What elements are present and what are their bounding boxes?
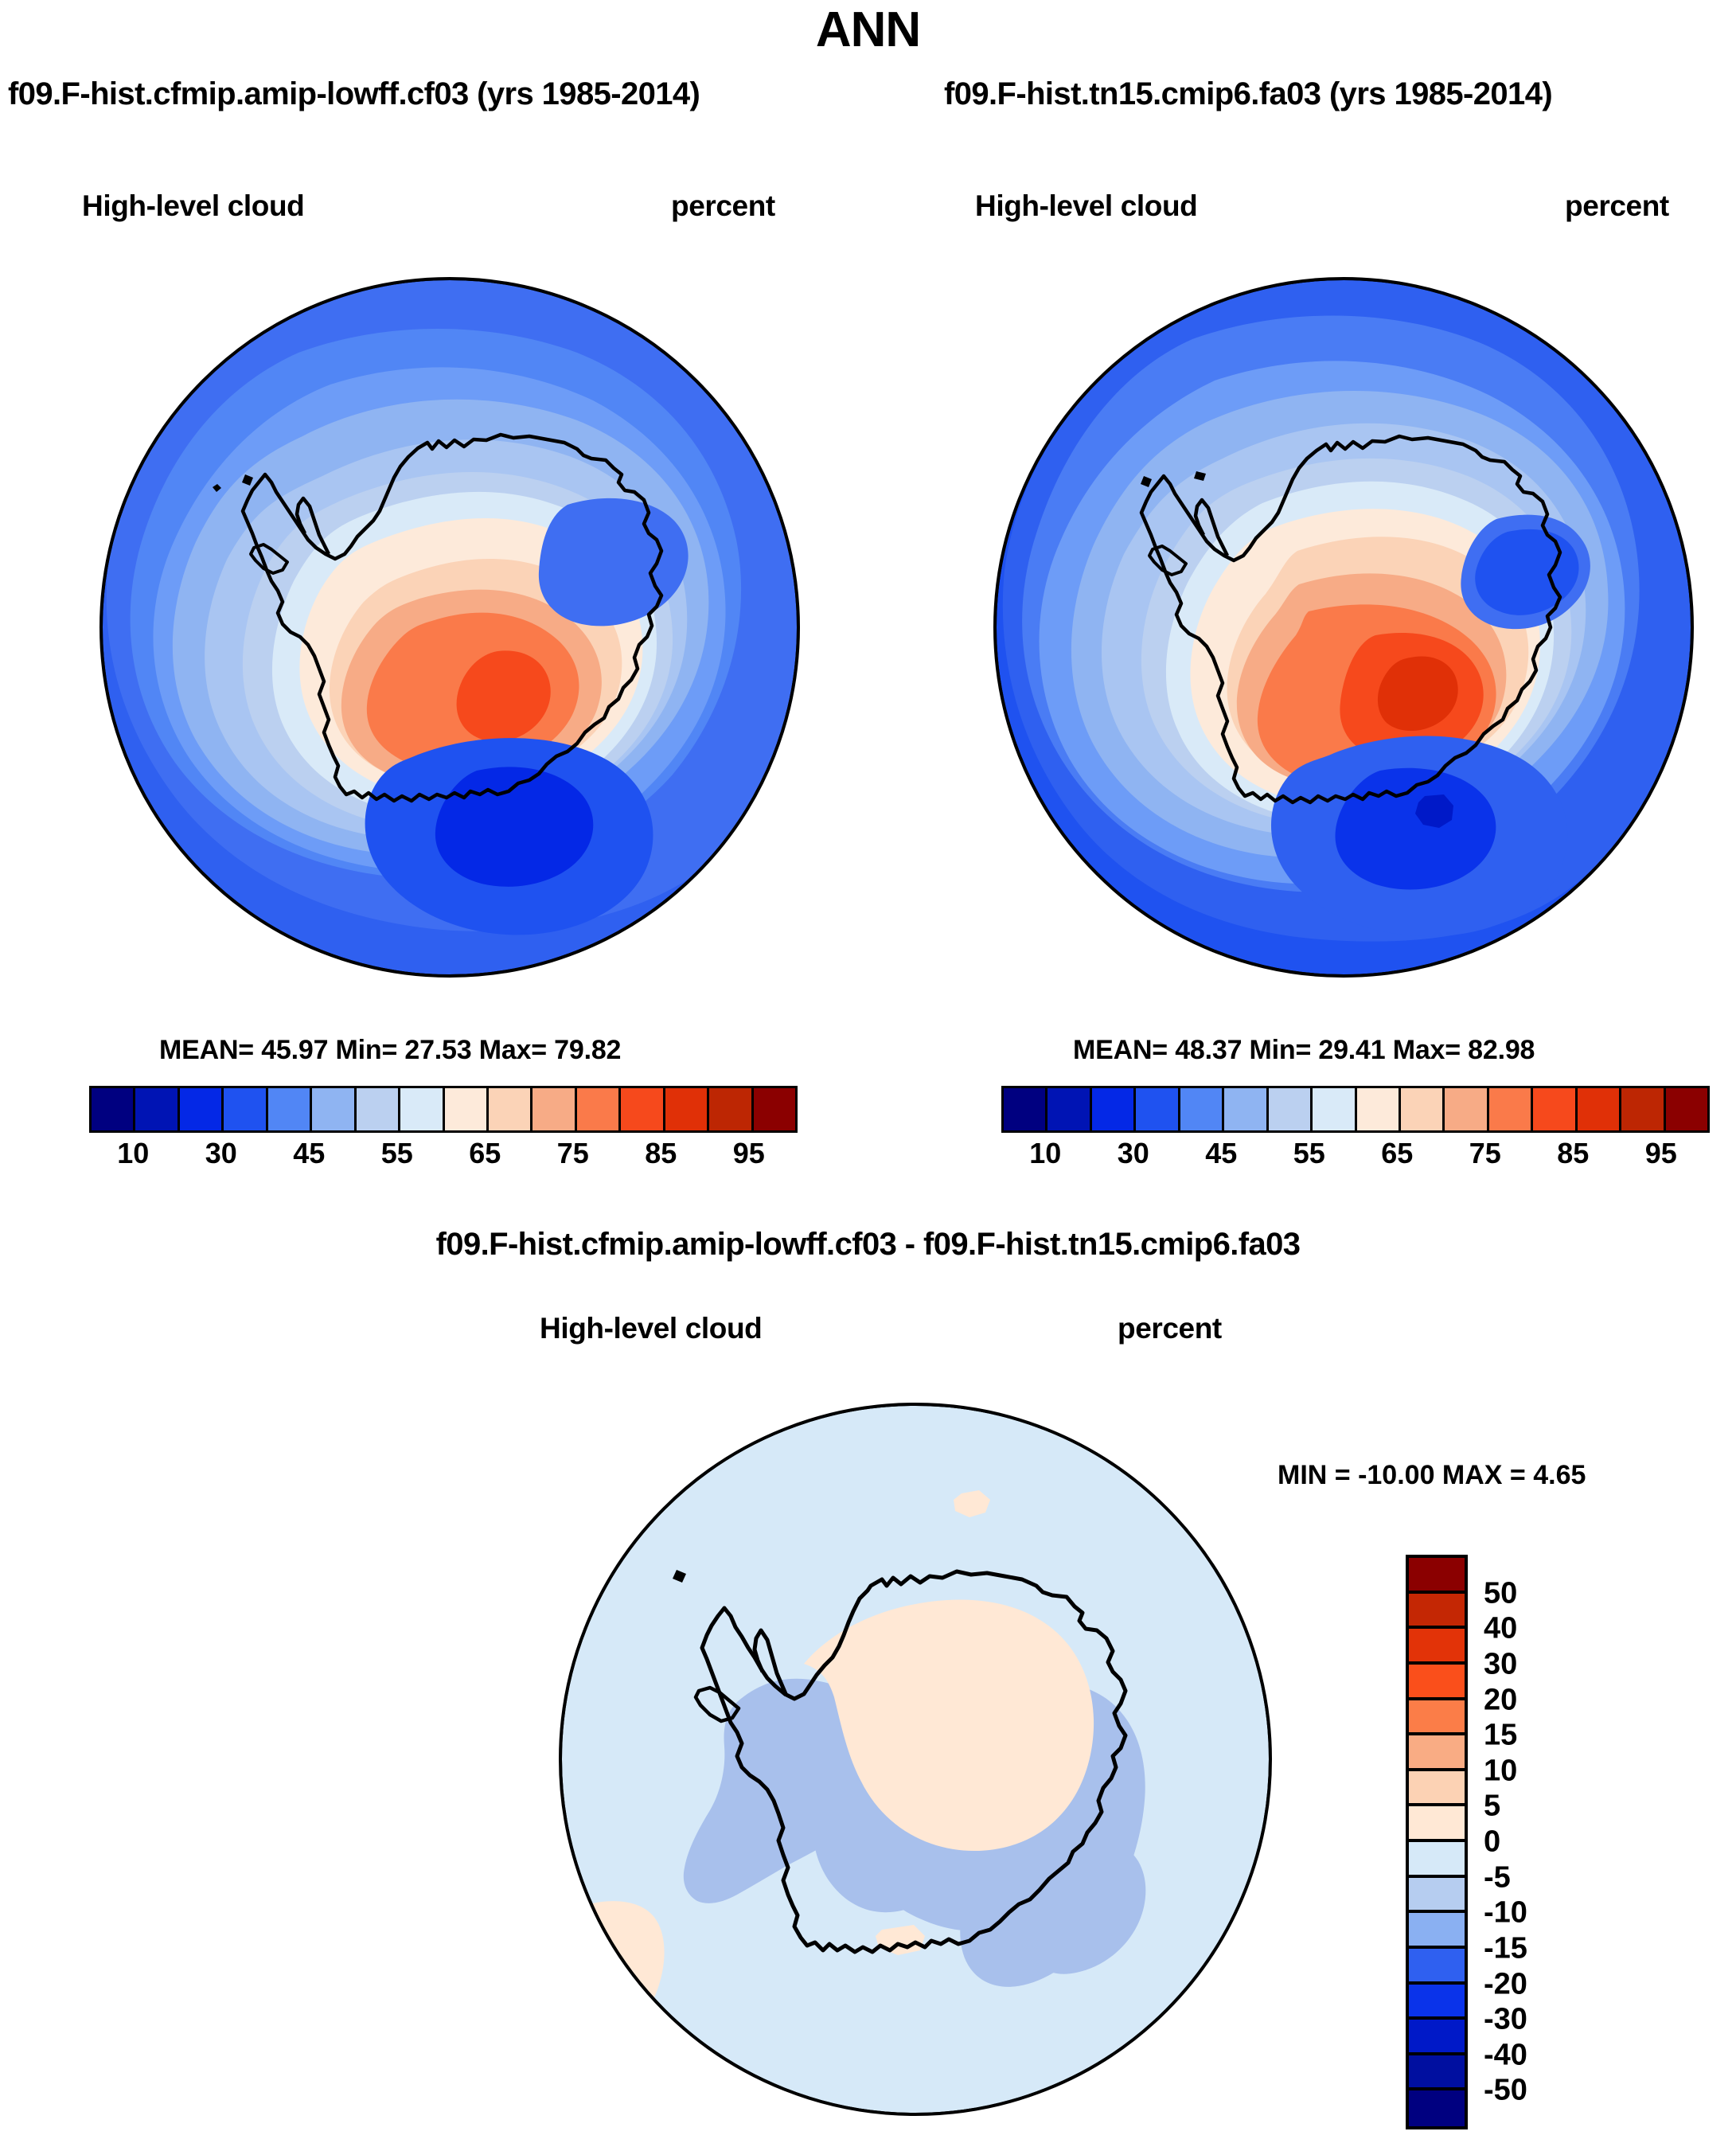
colorbar-swatch	[1313, 1088, 1356, 1130]
colorbar-swatch	[489, 1088, 533, 1130]
top-left-map	[99, 277, 800, 978]
top-right-colorbar-labels: 1030455565758595	[1001, 1137, 1705, 1173]
colorbar-tick-label: 30	[205, 1137, 237, 1170]
top-right-variable-label: High-level cloud	[975, 189, 1197, 223]
difference-colorbar-swatch	[1409, 2055, 1465, 2091]
difference-colorbar-tick-label: -30	[1484, 2003, 1527, 2037]
difference-colorbar-swatch	[1409, 1949, 1465, 1985]
difference-colorbar-tick-label: -15	[1484, 1931, 1527, 1965]
colorbar-tick-label: 95	[1645, 1137, 1677, 1170]
colorbar-swatch	[577, 1088, 621, 1130]
colorbar-tick-label: 30	[1118, 1137, 1149, 1170]
colorbar-swatch	[357, 1088, 400, 1130]
top-right-units-label: percent	[1565, 189, 1669, 223]
difference-colorbar-tick-label: 30	[1484, 1647, 1517, 1681]
difference-colorbar-swatch	[1409, 2090, 1465, 2126]
colorbar-tick-label: 95	[733, 1137, 765, 1170]
top-left-stats: MEAN= 45.97 Min= 27.53 Max= 79.82	[159, 1035, 621, 1066]
difference-colorbar-tick-label: -10	[1484, 1896, 1527, 1930]
colorbar-swatch	[1533, 1088, 1577, 1130]
top-right-colorbar	[1001, 1086, 1710, 1133]
colorbar-swatch	[1621, 1088, 1665, 1130]
colorbar-swatch	[445, 1088, 489, 1130]
difference-variable-label: High-level cloud	[540, 1312, 762, 1345]
colorbar-swatch	[754, 1088, 795, 1130]
colorbar-tick-label: 10	[1029, 1137, 1061, 1170]
colorbar-tick-label: 10	[117, 1137, 149, 1170]
colorbar-tick-label: 75	[557, 1137, 589, 1170]
difference-colorbar-swatch	[1409, 1913, 1465, 1949]
difference-colorbar-tick-label: 20	[1484, 1683, 1517, 1717]
difference-colorbar-swatch	[1409, 1771, 1465, 1807]
page-title: ANN	[0, 2, 1736, 58]
top-right-case-title: f09.F-hist.tn15.cmip6.fa03 (yrs 1985-201…	[944, 76, 1552, 112]
colorbar-swatch	[1004, 1088, 1047, 1130]
colorbar-swatch	[224, 1088, 267, 1130]
colorbar-swatch	[1578, 1088, 1621, 1130]
colorbar-swatch	[1401, 1088, 1445, 1130]
difference-map	[557, 1401, 1274, 2118]
colorbar-swatch	[268, 1088, 312, 1130]
colorbar-tick-label: 85	[1557, 1137, 1589, 1170]
difference-colorbar-swatch	[1409, 1806, 1465, 1842]
top-right-map	[993, 277, 1694, 978]
difference-colorbar-swatch	[1409, 1594, 1465, 1630]
difference-colorbar-swatch	[1409, 1878, 1465, 1914]
difference-colorbar-tick-label: -5	[1484, 1860, 1511, 1895]
colorbar-tick-label: 85	[645, 1137, 677, 1170]
colorbar-swatch	[665, 1088, 709, 1130]
colorbar-swatch	[1224, 1088, 1268, 1130]
colorbar-swatch	[92, 1088, 135, 1130]
colorbar-swatch	[533, 1088, 576, 1130]
difference-minmax: MIN = -10.00 MAX = 4.65	[1278, 1460, 1586, 1491]
difference-title: f09.F-hist.cfmip.amip-lowff.cf03 - f09.F…	[0, 1227, 1736, 1263]
difference-colorbar-swatch	[1409, 1665, 1465, 1700]
difference-colorbar-swatch	[1409, 1700, 1465, 1736]
difference-colorbar-swatch	[1409, 1629, 1465, 1665]
colorbar-swatch	[1180, 1088, 1224, 1130]
difference-colorbar-swatch	[1409, 2020, 1465, 2055]
colorbar-swatch	[135, 1088, 179, 1130]
difference-colorbar-tick-label: -50	[1484, 2074, 1527, 2108]
difference-colorbar-swatch	[1409, 1735, 1465, 1771]
colorbar-swatch	[1092, 1088, 1136, 1130]
colorbar-swatch	[1489, 1088, 1533, 1130]
colorbar-swatch	[1269, 1088, 1313, 1130]
difference-colorbar	[1406, 1555, 1468, 2129]
colorbar-tick-label: 55	[381, 1137, 413, 1170]
difference-colorbar-wrap: 50403020151050-5-10-15-20-30-40-50	[1406, 1555, 1468, 2129]
difference-units-label: percent	[1118, 1312, 1222, 1345]
top-left-units-label: percent	[671, 189, 775, 223]
top-left-case-title: f09.F-hist.cfmip.amip-lowff.cf03 (yrs 19…	[8, 76, 700, 112]
colorbar-swatch	[1445, 1088, 1488, 1130]
difference-colorbar-tick-label: 10	[1484, 1754, 1517, 1788]
difference-colorbar-tick-label: 40	[1484, 1612, 1517, 1646]
difference-colorbar-swatch	[1409, 1558, 1465, 1594]
difference-colorbar-tick-label: 15	[1484, 1719, 1517, 1753]
difference-colorbar-swatch	[1409, 1985, 1465, 2020]
colorbar-tick-label: 65	[1381, 1137, 1413, 1170]
top-left-variable-label: High-level cloud	[82, 189, 304, 223]
top-left-colorbar	[89, 1086, 798, 1133]
colorbar-swatch	[709, 1088, 753, 1130]
figure-canvas: ANN f09.F-hist.cfmip.amip-lowff.cf03 (yr…	[0, 0, 1736, 2143]
colorbar-swatch	[1357, 1088, 1401, 1130]
difference-colorbar-swatch	[1409, 1842, 1465, 1878]
colorbar-tick-label: 45	[293, 1137, 325, 1170]
difference-colorbar-tick-label: 50	[1484, 1576, 1517, 1610]
difference-colorbar-tick-label: -20	[1484, 1967, 1527, 2001]
difference-colorbar-tick-label: 0	[1484, 1825, 1500, 1860]
colorbar-swatch	[400, 1088, 444, 1130]
colorbar-swatch	[180, 1088, 224, 1130]
colorbar-tick-label: 75	[1469, 1137, 1501, 1170]
colorbar-swatch	[312, 1088, 356, 1130]
colorbar-tick-label: 65	[469, 1137, 501, 1170]
colorbar-tick-label: 45	[1205, 1137, 1237, 1170]
colorbar-swatch	[1666, 1088, 1707, 1130]
difference-colorbar-tick-label: 5	[1484, 1790, 1500, 1824]
colorbar-swatch	[1136, 1088, 1180, 1130]
difference-colorbar-labels: 50403020151050-5-10-15-20-30-40-50	[1484, 1555, 1611, 2129]
colorbar-swatch	[621, 1088, 665, 1130]
top-right-stats: MEAN= 48.37 Min= 29.41 Max= 82.98	[1073, 1035, 1535, 1066]
colorbar-swatch	[1047, 1088, 1091, 1130]
top-left-colorbar-labels: 1030455565758595	[89, 1137, 793, 1173]
colorbar-tick-label: 55	[1293, 1137, 1325, 1170]
difference-colorbar-tick-label: -40	[1484, 2038, 1527, 2072]
